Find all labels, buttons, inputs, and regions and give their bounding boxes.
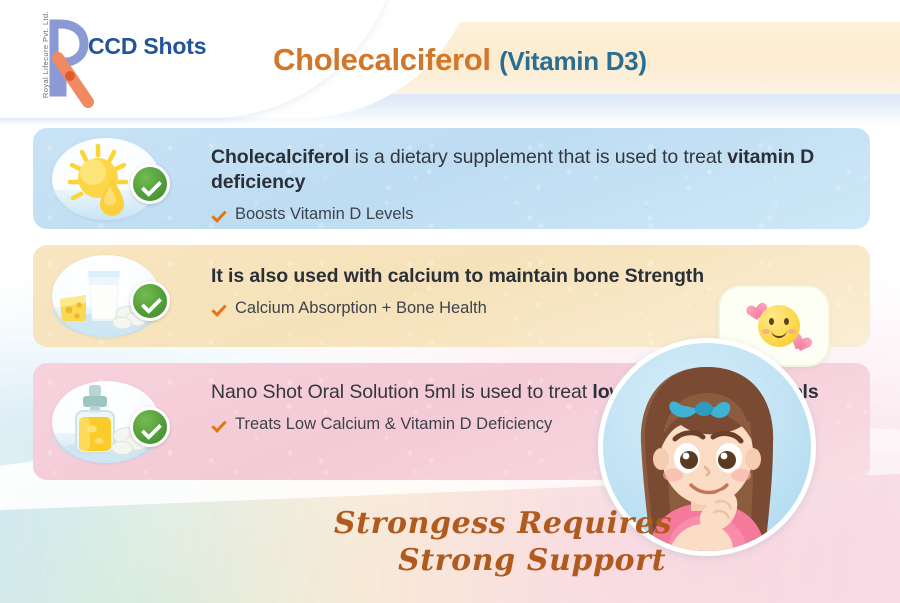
tagline: Strongess Requires Strong Support bbox=[318, 505, 688, 579]
sun-with-droplet-icon bbox=[46, 136, 166, 222]
tagline-line-1: Strongess Requires bbox=[334, 506, 672, 541]
card-1-bullet-text-0: Boosts Vitamin D Levels bbox=[235, 204, 414, 225]
card-1-bullet-0: Boosts Vitamin D Levels bbox=[211, 204, 856, 225]
title-subtitle: (Vitamin D3) bbox=[499, 46, 647, 76]
brand-name: CCD Shots bbox=[88, 33, 206, 60]
milk-cheese-pills-icon bbox=[46, 253, 166, 339]
card-3-headline-part-0: Nano Shot Oral Solution 5ml is used to t… bbox=[211, 381, 592, 403]
logo: Royal Lifecure Pvt. Ltd. bbox=[22, 16, 94, 108]
card-2-headline-part-0: It is also used with calcium to maintain… bbox=[211, 265, 704, 287]
card-3-bullet-text-0: Treats Low Calcium & Vitamin D Deficienc… bbox=[235, 414, 552, 435]
orange-check-icon bbox=[211, 301, 226, 316]
card-1: Cholecalciferol is a dietary supplement … bbox=[33, 128, 870, 229]
card-1-headline: Cholecalciferol is a dietary supplement … bbox=[211, 145, 856, 195]
green-check-badge bbox=[130, 281, 170, 321]
green-check-badge bbox=[130, 164, 170, 204]
orange-check-icon bbox=[211, 417, 226, 432]
dropper-bottle-pills-icon bbox=[46, 379, 166, 465]
orange-check-icon bbox=[211, 207, 226, 222]
card-1-headline-part-0: Cholecalciferol bbox=[211, 146, 349, 168]
title-main: Cholecalciferol bbox=[273, 42, 491, 77]
card-2-bullet-text-0: Calcium Absorption + Bone Health bbox=[235, 298, 487, 319]
card-1-headline-part-1: is a dietary supplement that is used to … bbox=[349, 146, 727, 168]
heart-icon bbox=[740, 297, 761, 317]
infographic-page: Royal Lifecure Pvt. Ltd. CCD Shots Chole… bbox=[0, 0, 900, 603]
green-check-badge bbox=[130, 407, 170, 447]
page-title: Cholecalciferol (Vitamin D3) bbox=[273, 42, 647, 78]
logo-r-mark bbox=[40, 18, 96, 108]
tagline-line-2: Strong Support bbox=[318, 542, 688, 579]
card-1-body: Cholecalciferol is a dietary supplement … bbox=[211, 128, 856, 246]
